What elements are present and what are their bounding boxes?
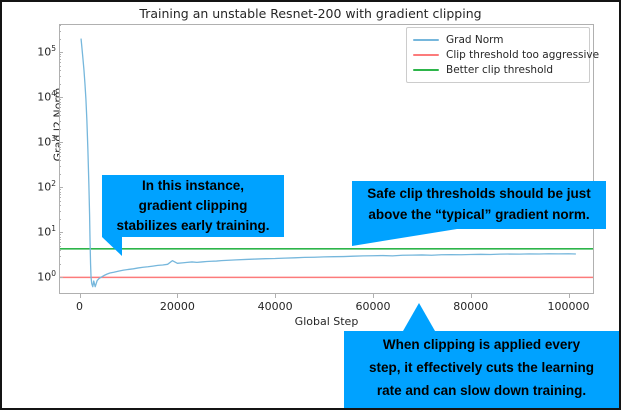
screenshot-root: Training an unstable Resnet-200 with gra… bbox=[0, 0, 621, 410]
y-minor-tick-mark bbox=[59, 54, 61, 55]
legend-color-swatch bbox=[413, 69, 439, 71]
x-tick-mark bbox=[80, 294, 81, 298]
y-minor-tick-mark bbox=[59, 237, 61, 238]
y-minor-tick-mark bbox=[59, 104, 61, 105]
x-tick-label: 80000 bbox=[431, 300, 511, 313]
y-minor-tick-mark bbox=[59, 264, 61, 265]
y-minor-tick-mark bbox=[59, 211, 61, 212]
y-minor-tick-mark bbox=[59, 219, 61, 220]
y-tick-mark bbox=[59, 142, 63, 143]
y-minor-tick-mark bbox=[59, 197, 61, 198]
annotation-callout-clipping-tradeoff: When clipping is applied every step, it … bbox=[344, 331, 619, 408]
x-tick-mark bbox=[275, 294, 276, 298]
y-tick-label: 101 bbox=[12, 224, 56, 239]
y-minor-tick-mark bbox=[59, 205, 61, 206]
legend-item: Clip threshold too aggressive bbox=[413, 47, 583, 62]
annotation-callout-early-training: In this instance, gradient clipping stab… bbox=[102, 175, 284, 237]
y-minor-tick-mark bbox=[59, 156, 61, 157]
y-minor-tick-mark bbox=[59, 62, 61, 63]
y-minor-tick-mark bbox=[59, 192, 61, 193]
x-tick-mark bbox=[471, 294, 472, 298]
y-minor-tick-mark bbox=[59, 70, 61, 71]
x-tick-label: 40000 bbox=[235, 300, 315, 313]
legend-item: Better clip threshold bbox=[413, 62, 583, 77]
y-minor-tick-mark bbox=[59, 189, 61, 190]
annotation-callout-safe-threshold: Safe clip thresholds should be just abov… bbox=[352, 181, 606, 229]
annotation-text: When clipping is applied every step, it … bbox=[369, 337, 594, 398]
y-minor-tick-mark bbox=[59, 166, 61, 167]
y-minor-tick-mark bbox=[59, 66, 61, 67]
y-minor-tick-mark bbox=[59, 107, 61, 108]
y-minor-tick-mark bbox=[59, 149, 61, 150]
y-minor-tick-mark bbox=[59, 194, 61, 195]
callout-tail bbox=[102, 237, 122, 256]
annotation-text: Safe clip thresholds should be just abov… bbox=[367, 186, 591, 222]
legend-item: Grad Norm bbox=[413, 32, 583, 47]
y-minor-tick-mark bbox=[59, 121, 61, 122]
y-minor-tick-mark bbox=[59, 56, 61, 57]
y-minor-tick-mark bbox=[59, 99, 61, 100]
y-minor-tick-mark bbox=[59, 174, 61, 175]
y-minor-tick-mark bbox=[59, 234, 61, 235]
x-tick-label: 20000 bbox=[137, 300, 217, 313]
y-minor-tick-mark bbox=[59, 201, 61, 202]
legend-color-swatch bbox=[413, 54, 439, 56]
x-tick-mark bbox=[569, 294, 570, 298]
y-minor-tick-mark bbox=[59, 84, 61, 85]
y-tick-mark bbox=[59, 97, 63, 98]
y-minor-tick-mark bbox=[59, 152, 61, 153]
y-tick-label: 100 bbox=[12, 269, 56, 284]
y-tick-label: 102 bbox=[12, 179, 56, 194]
y-minor-tick-mark bbox=[59, 111, 61, 112]
y-tick-label: 104 bbox=[12, 89, 56, 104]
legend-item-label: Clip threshold too aggressive bbox=[446, 49, 599, 61]
x-tick-mark bbox=[177, 294, 178, 298]
y-minor-tick-mark bbox=[59, 246, 61, 247]
y-minor-tick-mark bbox=[59, 39, 61, 40]
y-minor-tick-mark bbox=[59, 256, 61, 257]
annotation-text: In this instance, gradient clipping stab… bbox=[116, 178, 269, 233]
y-axis-tick-labels: 100101102103104105 bbox=[6, 24, 56, 294]
y-tick-mark bbox=[59, 277, 63, 278]
x-axis-label: Global Step bbox=[59, 315, 594, 328]
y-minor-tick-mark bbox=[59, 250, 61, 251]
legend-item-label: Better clip threshold bbox=[446, 64, 553, 76]
x-tick-label: 100000 bbox=[529, 300, 609, 313]
y-minor-tick-mark bbox=[59, 129, 61, 130]
x-tick-mark bbox=[373, 294, 374, 298]
y-minor-tick-mark bbox=[59, 239, 61, 240]
y-minor-tick-mark bbox=[59, 76, 61, 77]
y-minor-tick-mark bbox=[59, 147, 61, 148]
y-minor-tick-mark bbox=[59, 144, 61, 145]
y-minor-tick-mark bbox=[59, 25, 61, 26]
y-tick-mark bbox=[59, 52, 63, 53]
y-tick-label: 103 bbox=[12, 134, 56, 149]
chart-title: Training an unstable Resnet-200 with gra… bbox=[2, 6, 619, 21]
y-minor-tick-mark bbox=[59, 115, 61, 116]
legend-item-label: Grad Norm bbox=[446, 34, 504, 46]
chart-legend: Grad NormClip threshold too aggressiveBe… bbox=[406, 27, 590, 83]
matplotlib-figure: Training an unstable Resnet-200 with gra… bbox=[2, 2, 619, 408]
y-minor-tick-mark bbox=[59, 59, 61, 60]
x-tick-label: 60000 bbox=[333, 300, 413, 313]
callout-tail bbox=[403, 303, 435, 331]
y-minor-tick-mark bbox=[59, 31, 61, 32]
legend-color-swatch bbox=[413, 39, 439, 41]
y-minor-tick-mark bbox=[59, 160, 61, 161]
y-tick-mark bbox=[59, 187, 63, 188]
y-minor-tick-mark bbox=[59, 242, 61, 243]
x-tick-label: 0 bbox=[40, 300, 120, 313]
y-tick-label: 105 bbox=[12, 44, 56, 59]
y-minor-tick-mark bbox=[59, 102, 61, 103]
callout-tail bbox=[352, 229, 457, 246]
y-tick-mark bbox=[59, 232, 63, 233]
